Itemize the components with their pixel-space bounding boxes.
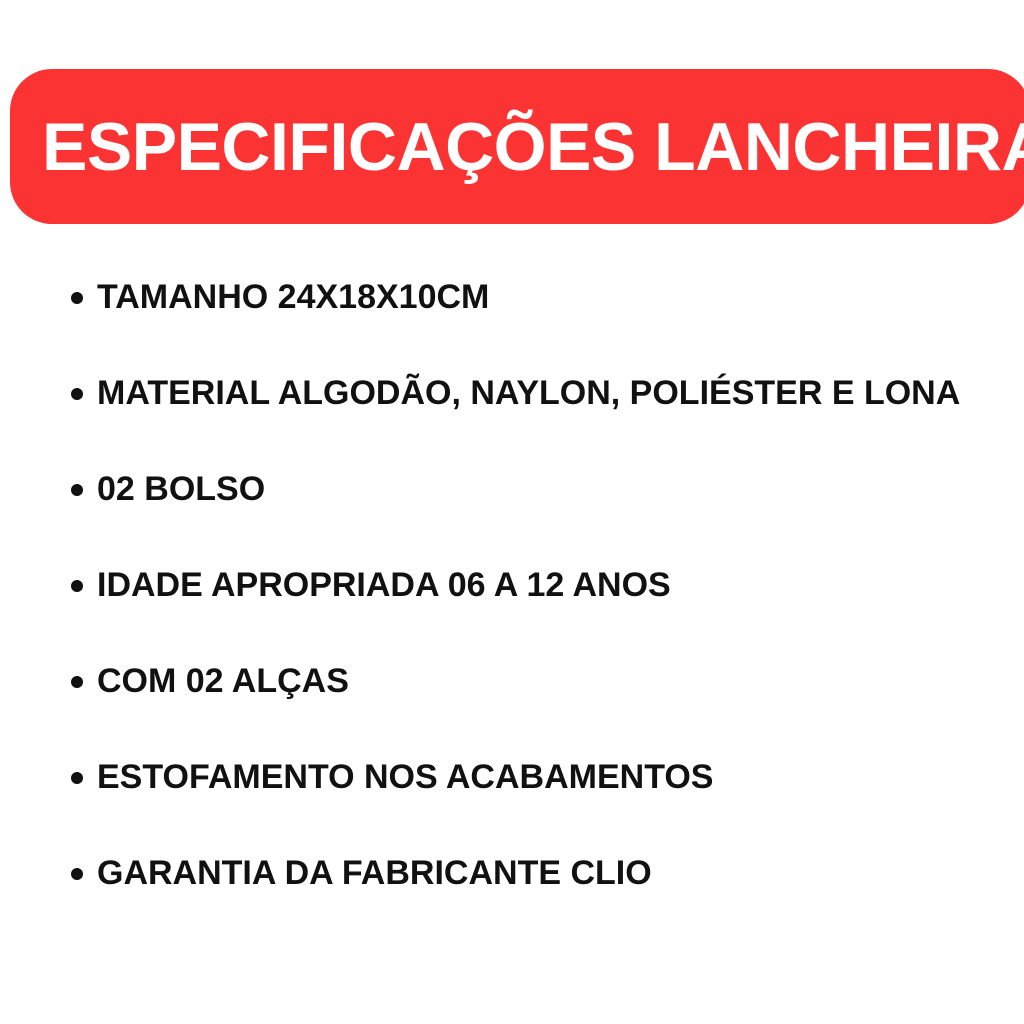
specification-list: TAMANHO 24X18X10CM MATERIAL ALGODÃO, NAY… xyxy=(0,250,1024,922)
title-banner: ESPECIFICAÇÕES LANCHEIRA xyxy=(10,69,1024,224)
list-item: MATERIAL ALGODÃO, NAYLON, POLIÉSTER E LO… xyxy=(0,346,1024,442)
spec-item-label: 02 BOLSO xyxy=(97,471,265,508)
spec-item-label: COM 02 ALÇAS xyxy=(97,663,349,700)
spec-item-label: TAMANHO 24X18X10CM xyxy=(97,279,489,316)
bullet-icon xyxy=(71,484,83,496)
list-item: 02 BOLSO xyxy=(0,442,1024,538)
bullet-icon xyxy=(71,676,83,688)
list-item: GARANTIA DA FABRICANTE CLIO xyxy=(0,826,1024,922)
bullet-icon xyxy=(71,580,83,592)
spec-item-label: ESTOFAMENTO NOS ACABAMENTOS xyxy=(97,759,713,796)
page-title: ESPECIFICAÇÕES LANCHEIRA xyxy=(10,113,1024,181)
list-item: TAMANHO 24X18X10CM xyxy=(0,250,1024,346)
bullet-icon xyxy=(71,868,83,880)
list-item: COM 02 ALÇAS xyxy=(0,634,1024,730)
spec-item-label: IDADE APROPRIADA 06 A 12 ANOS xyxy=(97,567,671,604)
spec-item-label: GARANTIA DA FABRICANTE CLIO xyxy=(97,855,652,892)
bullet-icon xyxy=(71,772,83,784)
list-item: IDADE APROPRIADA 06 A 12 ANOS xyxy=(0,538,1024,634)
spec-item-label: MATERIAL ALGODÃO, NAYLON, POLIÉSTER E LO… xyxy=(97,375,960,412)
bullet-icon xyxy=(71,388,83,400)
list-item: ESTOFAMENTO NOS ACABAMENTOS xyxy=(0,730,1024,826)
spec-sheet-page: ESPECIFICAÇÕES LANCHEIRA TAMANHO 24X18X1… xyxy=(0,0,1024,1024)
bullet-icon xyxy=(71,292,83,304)
